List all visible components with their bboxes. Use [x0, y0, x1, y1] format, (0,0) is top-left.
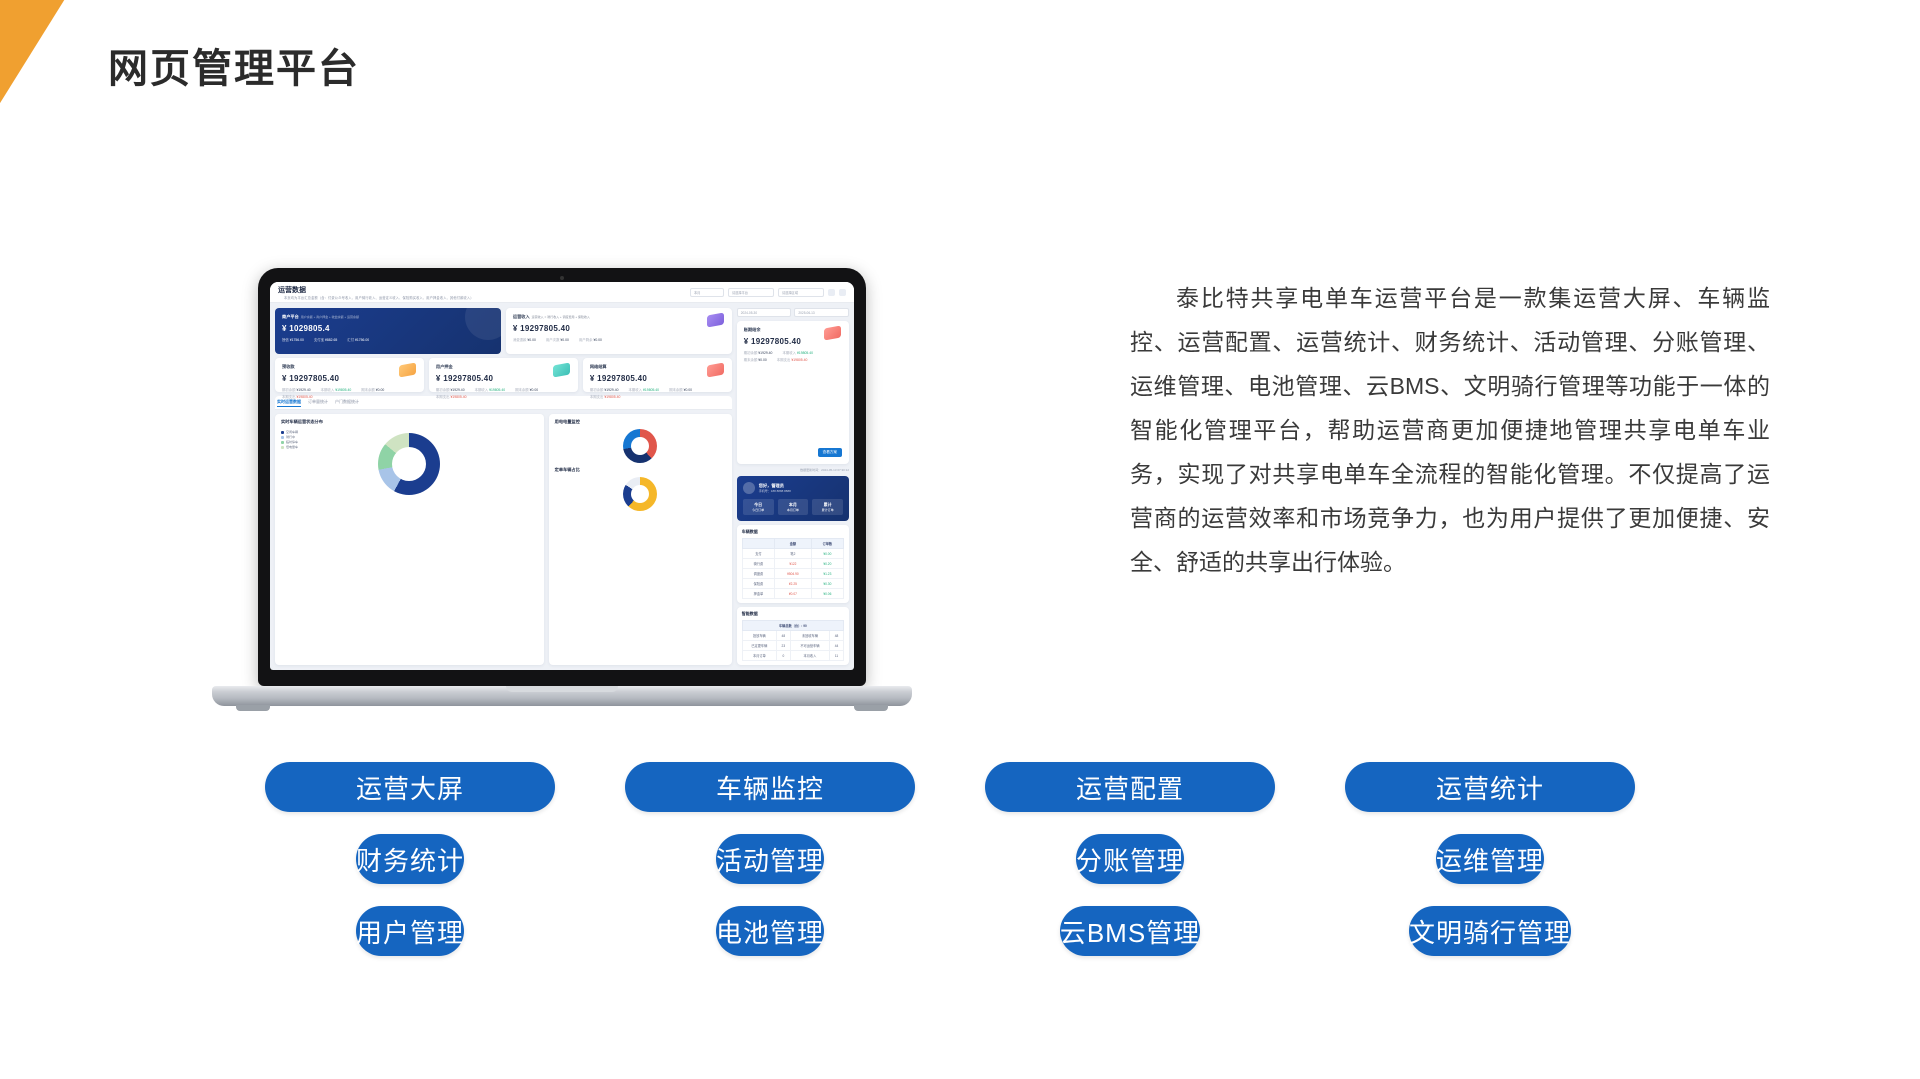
- kv-item: 汇付 ¥1756.00: [347, 337, 369, 342]
- merchant-card-label: 商户平台: [282, 314, 299, 320]
- merchant-amount: ¥ 1029805.4: [282, 324, 494, 333]
- deposit-kv-list: 期初余额 ¥1929.40 本期收入 ¥19805.40 期末余额 ¥0.00 …: [282, 387, 417, 399]
- revenue-kv-list: 消费退款 ¥0.00 用户次数 ¥0.00 用户剩余 ¥0.00: [513, 337, 725, 342]
- settlement-kv-list: 期初余额 ¥1929.40 本期收入 ¥19805.40 期末余额 ¥0.00 …: [744, 350, 842, 362]
- date-select[interactable]: 本月: [690, 288, 724, 297]
- feature-button-user-management[interactable]: 用户管理: [356, 906, 464, 956]
- deposit-amount: ¥ 19297805.40: [282, 374, 417, 383]
- dashboard-sidebar: 2024-05-30 2025-06-13 账期结余 ¥ 19297805.40…: [737, 308, 849, 665]
- user-deposit-kv-list: 期初余额 ¥1929.40 本期收入 ¥19805.40 期末余额 ¥0.00 …: [436, 387, 571, 399]
- user-deposit-card-label: 用户押金: [436, 364, 571, 370]
- laptop-lid: 运营数据 本页均为平台汇总金额（含：付费公众号收入、用户骑行收入、运营定义收入、…: [258, 268, 866, 686]
- sidebar-date-to[interactable]: 2025-06-13: [794, 308, 849, 317]
- vehicle-data-table: 车辆数据 金额 订单数 支付 笔2: [737, 525, 849, 603]
- table-row: 调度费 ¥504.90 ¥1.23: [742, 569, 843, 579]
- user-phone: 手机号：188 8888 8888: [759, 489, 791, 493]
- user-stat-today[interactable]: 今日 今日订单: [743, 499, 774, 515]
- export-icon[interactable]: [839, 289, 846, 296]
- payable-amount: ¥ 19297805.40: [590, 374, 725, 383]
- merchant-card-hint: 用户余额 + 商户押金 + 收益余额 + 运营余额: [301, 315, 359, 319]
- table-row: 押金单 ¥0.07 ¥0.06: [742, 589, 843, 599]
- payable-card[interactable]: 网络结算 ¥ 19297805.40 期初余额 ¥1929.40 本期收入 ¥1…: [583, 358, 732, 392]
- card-title: 商户平台 用户余额 + 商户押金 + 收益余额 + 运营余额: [282, 314, 494, 320]
- feature-button-battery-management[interactable]: 电池管理: [716, 906, 824, 956]
- vehicle-status-chart-title: 实时车辆运营状态分布: [281, 419, 538, 425]
- revenue-card-label: 运营收入: [513, 314, 530, 320]
- refresh-icon[interactable]: [828, 289, 835, 296]
- kv-item: 消费退款 ¥0.00: [513, 337, 536, 342]
- table-row: 已定更车辆 23 不可运营车辆 44: [742, 641, 843, 651]
- laptop-mockup: 运营数据 本页均为平台汇总金额（含：付费公众号收入、用户骑行收入、运营定义收入、…: [212, 268, 912, 716]
- kv-item: 用户次数 ¥0.00: [546, 337, 569, 342]
- feature-row-2: 财务统计 活动管理 分账管理 运维管理: [230, 834, 1670, 884]
- platform-select[interactable]: 请选择平台: [728, 288, 774, 297]
- kv-item: 授信 ¥1756.00: [282, 337, 304, 342]
- table-row: 投放车辆 48 未回收车辆 48: [742, 631, 843, 641]
- dashboard-header: 运营数据 本页均为平台汇总金额（含：付费公众号收入、用户骑行收入、运营定义收入、…: [270, 282, 854, 303]
- dashboard-title: 运营数据: [278, 285, 474, 295]
- laptop-camera-notch: [530, 274, 594, 281]
- laptop-foot-right: [854, 705, 888, 711]
- data-update-timestamp: 数据更新时间：2024-05-13 07:30:12: [737, 468, 849, 472]
- laptop-foot-left: [236, 705, 270, 711]
- revenue-card[interactable]: 运营收入 运营收入 = 骑行收入 + 调度费用 + 保险收入 ¥ 1929780…: [506, 308, 732, 354]
- table-row: 保险费 ¥2.25 ¥0.30: [742, 579, 843, 589]
- revenue-amount: ¥ 19297805.40: [513, 324, 725, 333]
- user-deposit-amount: ¥ 19297805.40: [436, 374, 571, 383]
- feature-row-1: 运营大屏 车辆监控 运营配置 运营统计: [230, 762, 1670, 812]
- slide-root: 网页管理平台 泰比特共享电单车运营平台是一款集运营大屏、车辆监控、运营配置、运营…: [0, 0, 1920, 1079]
- dashboard-subtitle: 本页均为平台汇总金额（含：付费公众号收入、用户骑行收入、运营定义收入、保险购买收…: [284, 295, 474, 300]
- tab-orders[interactable]: 订单量统计: [308, 399, 328, 407]
- online-chart-title: 定单车辆占比: [555, 467, 726, 473]
- feature-button-ops-management[interactable]: 运维管理: [1436, 834, 1544, 884]
- revenue-card-hint: 运营收入 = 骑行收入 + 调度费用 + 保险收入: [532, 315, 590, 319]
- deposit-card-label: 预收款: [282, 364, 417, 370]
- feature-button-finance-stats[interactable]: 财务统计: [356, 834, 464, 884]
- laptop-screen: 运营数据 本页均为平台汇总金额（含：付费公众号收入、用户骑行收入、运营定义收入、…: [270, 282, 854, 670]
- vehicle-status-chart-panel: 实时车辆运营状态分布 空闲车辆 骑行中 临时停车 低电量车: [275, 414, 544, 665]
- dashboard-screenshot: 运营数据 本页均为平台汇总金额（含：付费公众号收入、用户骑行收入、运营定义收入、…: [270, 282, 854, 670]
- sidebar-date-from[interactable]: 2024-05-30: [737, 308, 792, 317]
- user-row: 您好，管理员 手机号：188 8888 8888: [743, 482, 843, 494]
- deposit-card[interactable]: 预收款 ¥ 19297805.40 期初余额 ¥1929.40 本期收入 ¥19…: [275, 358, 424, 392]
- tab-realtime[interactable]: 实时运营数据: [277, 399, 301, 407]
- chart-row: 实时车辆运营状态分布 空闲车辆 骑行中 临时停车 低电量车: [275, 414, 732, 665]
- feature-button-civilized-riding-management[interactable]: 文明骑行管理: [1409, 906, 1571, 956]
- vehicle-status-donut: [378, 433, 440, 495]
- tab-users[interactable]: 户门数据统计: [335, 399, 359, 407]
- merchant-kv-list: 授信 ¥1756.00 支付宝 ¥882.65 汇付 ¥1756.00: [282, 337, 494, 342]
- battery-chart-title: 用电电量监控: [555, 419, 726, 425]
- avatar: [743, 482, 755, 494]
- kv-item: 用户剩余 ¥0.00: [579, 337, 602, 342]
- settlement-card[interactable]: 账期结余 ¥ 19297805.40 期初余额 ¥1929.40 本期收入 ¥1…: [737, 321, 849, 464]
- online-donut: [623, 477, 657, 511]
- page-title: 网页管理平台: [108, 36, 360, 94]
- user-deposit-card[interactable]: 用户押金 ¥ 19297805.40 期初余额 ¥1929.40 本期收入 ¥1…: [429, 358, 578, 392]
- table-header-row: 金额 订单数: [742, 539, 843, 549]
- payable-card-label: 网络结算: [590, 364, 725, 370]
- dashboard-main-column: 商户平台 用户余额 + 商户押金 + 收益余额 + 运营余额 ¥ 1029805…: [275, 308, 732, 665]
- feature-row-3: 用户管理 电池管理 云BMS管理 文明骑行管理: [230, 906, 1670, 956]
- feature-button-operation-screen[interactable]: 运营大屏: [265, 762, 555, 812]
- summary-card-row-2: 预收款 ¥ 19297805.40 期初余额 ¥1929.40 本期收入 ¥19…: [275, 358, 732, 392]
- description-paragraph: 泰比特共享电单车运营平台是一款集运营大屏、车辆监控、运营配置、运营统计、财务统计…: [1130, 276, 1770, 584]
- feature-button-operation-config[interactable]: 运营配置: [985, 762, 1275, 812]
- feature-button-activity-management[interactable]: 活动管理: [716, 834, 824, 884]
- region-select[interactable]: 请选择区域: [778, 288, 824, 297]
- card-bubble-decoration: [465, 308, 501, 340]
- dashboard-toolbar: 本月 请选择平台 请选择区域: [690, 288, 846, 297]
- kv-item: 支付宝 ¥882.65: [314, 337, 337, 342]
- user-stat-month[interactable]: 本月 本月订单: [778, 499, 809, 515]
- feature-button-cloud-bms-management[interactable]: 云BMS管理: [1060, 906, 1200, 956]
- smart-data-table: 智能数据 车辆总数（台）: 90 投放车辆 48 未回收车辆: [737, 607, 849, 665]
- dashboard-body: 商户平台 用户余额 + 商户押金 + 收益余额 + 运营余额 ¥ 1029805…: [270, 303, 854, 670]
- feature-button-grid: 运营大屏 车辆监控 运营配置 运营统计 财务统计 活动管理 分账管理 运维管理 …: [230, 762, 1670, 978]
- feature-button-vehicle-monitor[interactable]: 车辆监控: [625, 762, 915, 812]
- view-plan-button[interactable]: 查看方案: [818, 448, 842, 457]
- vehicle-data-table-title: 车辆数据: [742, 529, 844, 535]
- table-row: 本月订单 0 本月收入 11: [742, 651, 843, 661]
- table-row: 支付 笔2 ¥0.00: [742, 549, 843, 559]
- battery-charts-panel: 用电电量监控 定单车辆占比: [549, 414, 732, 665]
- laptop-base: [212, 686, 912, 706]
- table-row: 骑行费 ¥122 ¥0.20: [742, 559, 843, 569]
- user-stat-total[interactable]: 累计 累计订单: [812, 499, 843, 515]
- vehicle-status-legend: 空闲车辆 骑行中 临时停车 低电量车: [281, 430, 298, 450]
- battery-donut: [623, 429, 657, 463]
- feature-button-split-account-management[interactable]: 分账管理: [1076, 834, 1184, 884]
- merchant-balance-card[interactable]: 商户平台 用户余额 + 商户押金 + 收益余额 + 运营余额 ¥ 1029805…: [275, 308, 501, 354]
- smart-data-table-title: 智能数据: [742, 611, 844, 617]
- user-profile-card: 您好，管理员 手机号：188 8888 8888 今日 今日订单: [737, 476, 849, 521]
- summary-card-row-1: 商户平台 用户余额 + 商户押金 + 收益余额 + 运营余额 ¥ 1029805…: [275, 308, 732, 354]
- feature-button-operation-stats[interactable]: 运营统计: [1345, 762, 1635, 812]
- table-header-row: 车辆总数（台）: 90: [742, 621, 843, 631]
- payable-kv-list: 期初余额 ¥1929.40 本期收入 ¥19805.40 期末余额 ¥0.00 …: [590, 387, 725, 399]
- user-stats: 今日 今日订单 本月 本月订单 累计 累计订单: [743, 499, 843, 515]
